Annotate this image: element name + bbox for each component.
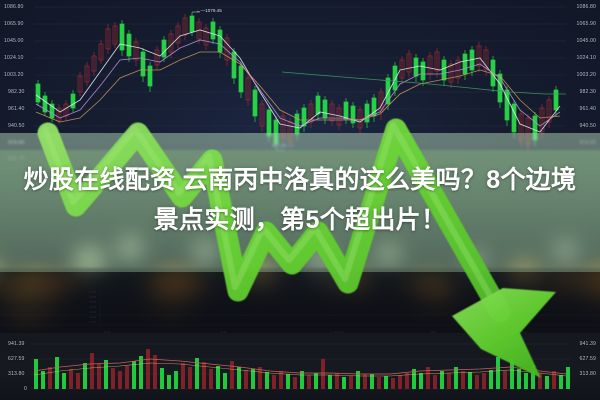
price-axis-right-7: 940.50 bbox=[580, 123, 596, 129]
price-axis-left-1: 1065.90 bbox=[4, 21, 23, 27]
price-axis-right-3: 1024.10 bbox=[577, 55, 596, 61]
svg-text:00.00: 00.00 bbox=[90, 295, 97, 299]
price-high-marker: ←—1079.45 bbox=[196, 8, 222, 13]
volume-axis-left-1: 627.59 bbox=[8, 356, 24, 362]
price-axis-right-0: 1086.80 bbox=[577, 4, 596, 10]
price-axis-right-5: 982.30 bbox=[580, 89, 596, 95]
price-axis-left-4: 1003.20 bbox=[4, 72, 23, 78]
svg-text:00.00: 00.00 bbox=[90, 300, 97, 304]
title-line-2: 景点实测，第5个超出片！ bbox=[8, 200, 592, 240]
svg-text:00.00: 00.00 bbox=[90, 310, 97, 314]
volume-bars bbox=[34, 349, 570, 389]
ma20-line bbox=[36, 52, 560, 122]
title-line-1: 炒股在线配资 云南丙中洛真的这么美吗？8个边境 bbox=[8, 160, 592, 200]
volume-axis-left-2: 313.80 bbox=[8, 371, 24, 377]
price-axis-left-5: 982.30 bbox=[8, 89, 24, 95]
price-axis-left-7: 940.50 bbox=[8, 123, 24, 129]
price-axis-left-0: 1086.80 bbox=[4, 4, 23, 10]
svg-text:00.00: 00.00 bbox=[90, 305, 97, 309]
svg-text:00.00: 00.00 bbox=[90, 320, 97, 324]
volume-chart-svg bbox=[0, 333, 600, 400]
ghost-chart-svg: 00.00 00.00 00.00 00.00 00.00 00.00 00.0… bbox=[0, 285, 600, 337]
volume-axis-left-0: 941.39 bbox=[8, 341, 24, 347]
volume-axis-right-1: 627.59 bbox=[580, 356, 596, 362]
price-axis-right-2: 1045.00 bbox=[577, 38, 596, 44]
volume-axis-right-0: 941.39 bbox=[580, 341, 596, 347]
ghost-chart: 00.00 00.00 00.00 00.00 00.00 00.00 00.0… bbox=[0, 285, 600, 337]
price-axis-right-1: 1065.90 bbox=[577, 21, 596, 27]
banner-title: 炒股在线配资 云南丙中洛真的这么美吗？8个边境 景点实测，第5个超出片！ bbox=[0, 160, 600, 240]
price-axis-left-2: 1045.00 bbox=[4, 38, 23, 44]
price-axis-left-3: 1024.10 bbox=[4, 55, 23, 61]
price-axis-right-4: 1003.20 bbox=[577, 72, 596, 78]
volume-axis-right-2: 313.80 bbox=[580, 371, 596, 377]
volume-axis-left-3: 0 bbox=[24, 386, 27, 392]
price-axis-right-6: 961.40 bbox=[580, 106, 596, 112]
price-axis-left-6: 961.40 bbox=[8, 106, 24, 112]
ma10-line bbox=[36, 40, 560, 126]
volume-chart-panel bbox=[0, 333, 600, 400]
banner-image: 00.00 00.00 00.00 00.00 00.00 00.00 00.0… bbox=[0, 0, 600, 400]
svg-text:00.00: 00.00 bbox=[90, 315, 97, 319]
svg-text:00.00: 00.00 bbox=[90, 290, 97, 294]
price-candles bbox=[36, 12, 566, 150]
